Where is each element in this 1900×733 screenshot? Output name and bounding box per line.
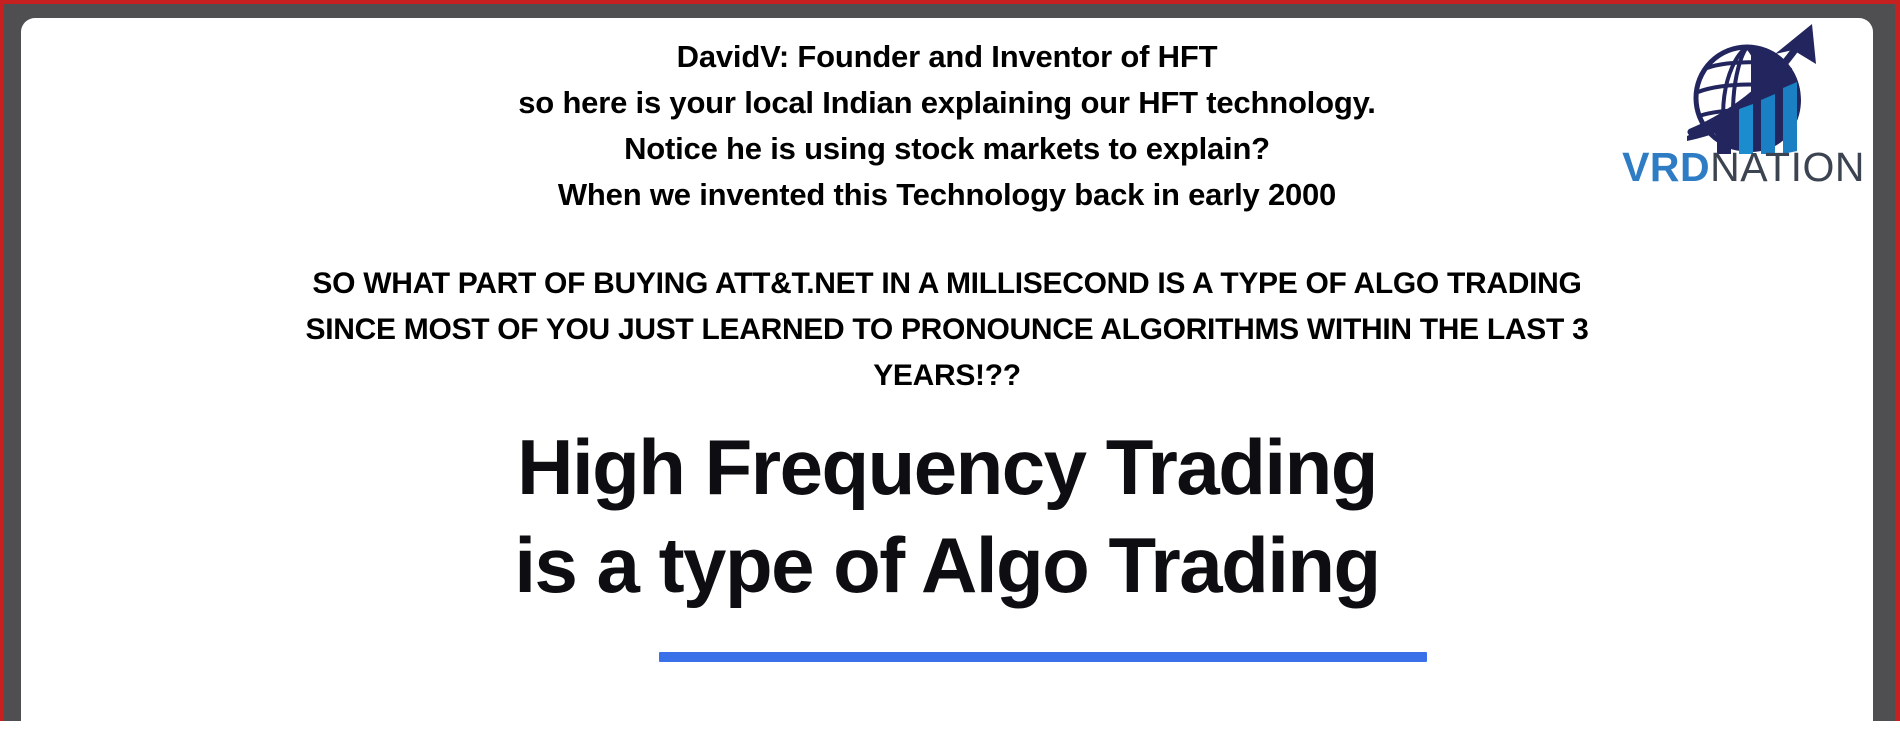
top-caption-block: DavidV: Founder and Inventor of HFT so h… <box>21 34 1873 218</box>
shout-line-3: YEARS!?? <box>51 353 1843 399</box>
headline-line-2: is a type of Algo Trading <box>21 516 1873 614</box>
shout-caption-block: SO WHAT PART OF BUYING ATT&T.NET IN A MI… <box>51 261 1843 399</box>
headline-underline <box>659 652 1427 662</box>
slide-content-card: VRDNATION DavidV: Founder and Inventor o… <box>21 18 1873 733</box>
screenshot-viewport: VRDNATION DavidV: Founder and Inventor o… <box>0 0 1900 721</box>
slide-headline: High Frequency Trading is a type of Algo… <box>21 418 1873 614</box>
headline-line-1: High Frequency Trading <box>21 418 1873 516</box>
shout-line-1: SO WHAT PART OF BUYING ATT&T.NET IN A MI… <box>51 261 1843 307</box>
caption-line-1: DavidV: Founder and Inventor of HFT <box>61 34 1833 80</box>
caption-line-3: Notice he is using stock markets to expl… <box>61 126 1833 172</box>
caption-line-2: so here is your local Indian explaining … <box>61 80 1833 126</box>
caption-line-4: When we invented this Technology back in… <box>61 172 1833 218</box>
shout-line-2: SINCE MOST OF YOU JUST LEARNED TO PRONOU… <box>51 307 1843 353</box>
window-frame: VRDNATION DavidV: Founder and Inventor o… <box>4 4 1895 721</box>
